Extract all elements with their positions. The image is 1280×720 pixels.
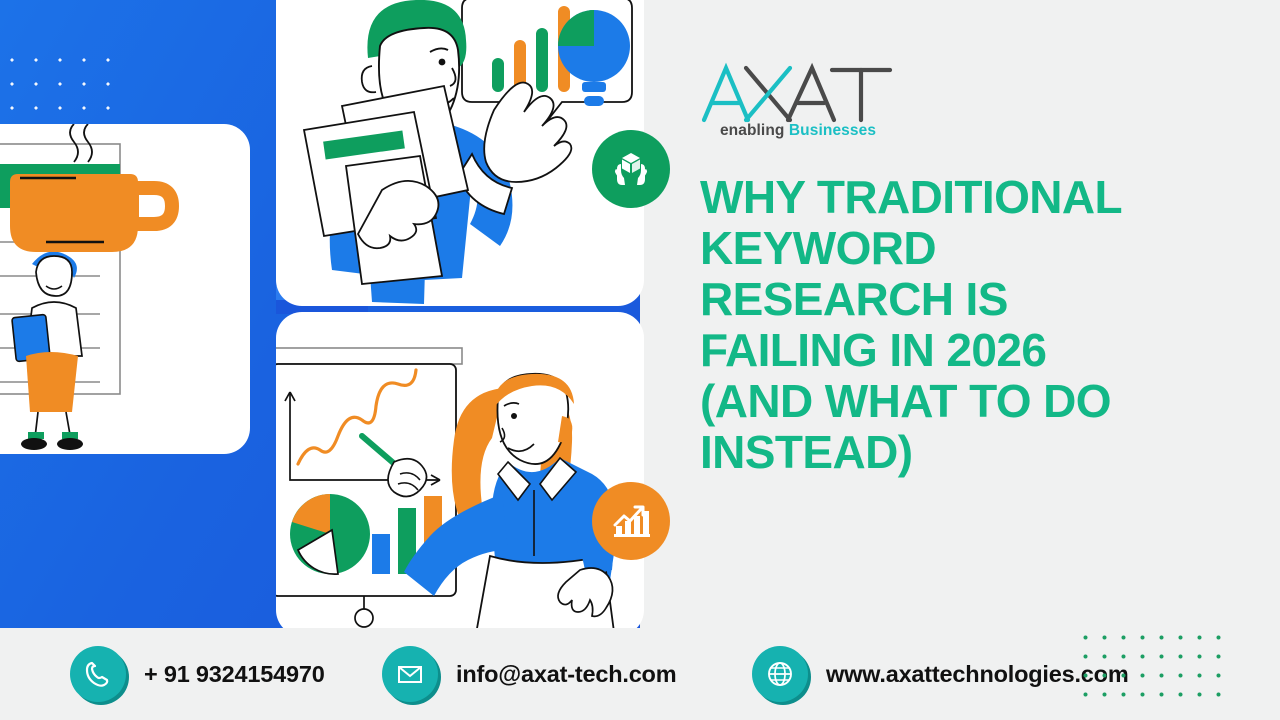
bar-1 <box>492 58 504 92</box>
contact-website[interactable]: www.axattechnologies.com <box>752 646 1129 702</box>
bar-3 <box>536 28 548 92</box>
banner-canvas: enabling Businesses WHY TRADITIONAL KEYW… <box>0 0 1280 720</box>
woman-presenting-card <box>276 312 644 636</box>
coffee-mug-icon <box>10 124 172 252</box>
hands-holding-box-icon <box>610 148 652 190</box>
green-dot-grid-pattern <box>1076 628 1228 702</box>
globe-icon <box>752 646 808 702</box>
axat-logo-mark <box>700 62 896 124</box>
logo-tagline-part1: enabling <box>720 122 785 139</box>
growth-chart-badge <box>592 482 670 560</box>
checklist-team-illustration <box>0 124 250 454</box>
contact-email[interactable]: info@axat-tech.com <box>382 646 676 702</box>
growth-chart-icon <box>610 500 652 542</box>
contact-phone[interactable]: + 91 9324154970 <box>70 646 325 702</box>
checklist-team-card <box>0 124 250 454</box>
logo-tagline: enabling Businesses <box>700 122 896 140</box>
businessman-presenting-illustration <box>276 0 644 306</box>
logo-tagline-part2: Businesses <box>789 122 876 139</box>
phone-number: + 91 9324154970 <box>144 661 325 688</box>
pie-chart <box>290 494 370 574</box>
hands-holding-box-badge <box>592 130 670 208</box>
woman-presenting-whiteboard-illustration <box>276 312 644 636</box>
envelope-icon <box>382 646 438 702</box>
email-address: info@axat-tech.com <box>456 661 676 688</box>
contact-footer: + 91 9324154970 info@axat-tech.com <box>0 628 1280 720</box>
phone-icon <box>70 646 126 702</box>
axat-logo[interactable]: enabling Businesses <box>700 62 896 142</box>
page-title: WHY TRADITIONAL KEYWORD RESEARCH IS FAIL… <box>700 172 1170 478</box>
businessman-card <box>276 0 644 306</box>
